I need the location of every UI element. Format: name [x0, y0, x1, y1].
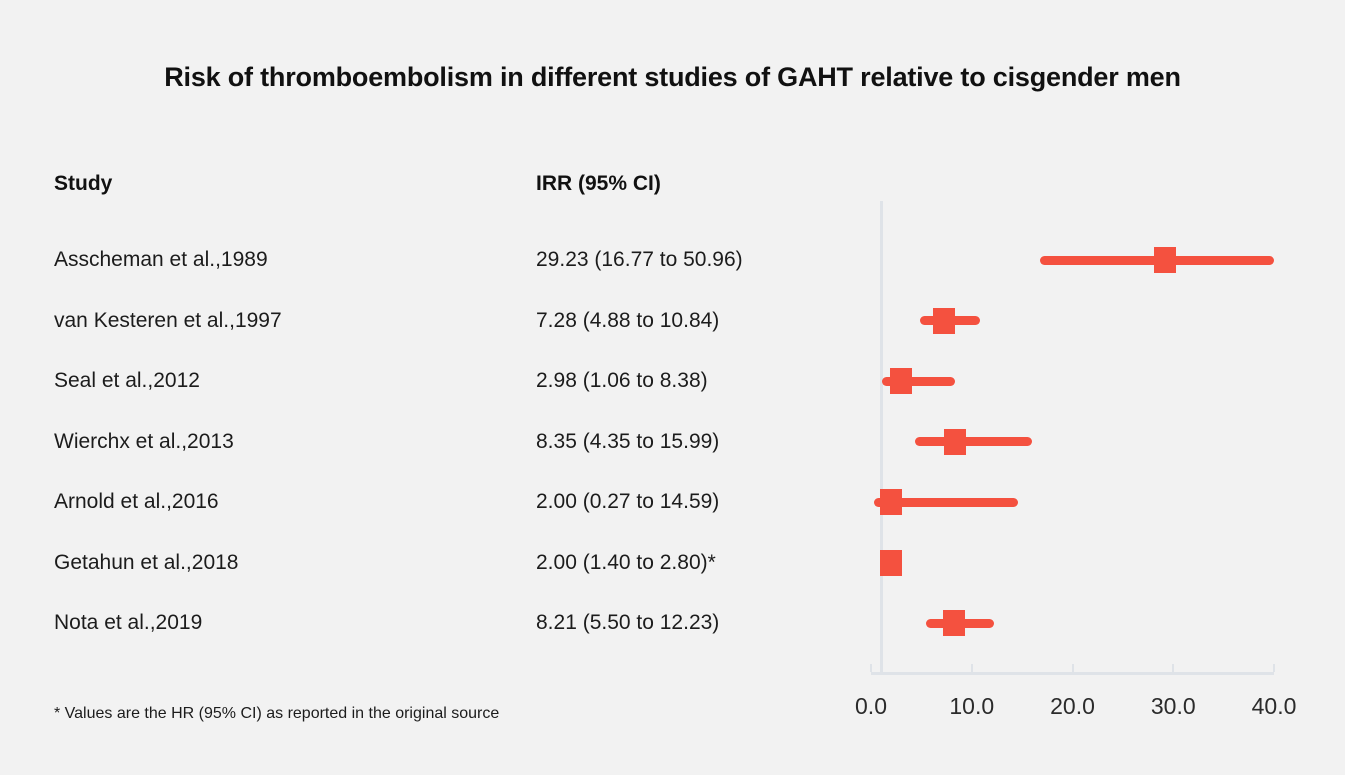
- table-row: Arnold et al.,20162.00 (0.27 to 14.59): [0, 482, 1345, 522]
- study-name: Getahun et al.,2018: [54, 543, 238, 583]
- forest-plot-figure: Risk of thromboembolism in different stu…: [0, 0, 1345, 775]
- irr-value: 8.35 (4.35 to 15.99): [536, 422, 719, 462]
- study-name: Wierchx et al.,2013: [54, 422, 234, 462]
- irr-value: 29.23 (16.77 to 50.96): [536, 240, 743, 280]
- study-rows: Asscheman et al.,198929.23 (16.77 to 50.…: [0, 0, 1345, 775]
- study-name: Asscheman et al.,1989: [54, 240, 268, 280]
- irr-value: 8.21 (5.50 to 12.23): [536, 603, 719, 643]
- table-row: Nota et al.,20198.21 (5.50 to 12.23): [0, 603, 1345, 643]
- table-row: van Kesteren et al.,19977.28 (4.88 to 10…: [0, 301, 1345, 341]
- irr-value: 2.00 (0.27 to 14.59): [536, 482, 719, 522]
- study-name: Seal et al.,2012: [54, 361, 200, 401]
- study-name: Nota et al.,2019: [54, 603, 202, 643]
- irr-value: 7.28 (4.88 to 10.84): [536, 301, 719, 341]
- table-row: Wierchx et al.,20138.35 (4.35 to 15.99): [0, 422, 1345, 462]
- irr-value: 2.98 (1.06 to 8.38): [536, 361, 708, 401]
- footnote: * Values are the HR (95% CI) as reported…: [54, 705, 499, 723]
- study-name: Arnold et al.,2016: [54, 482, 219, 522]
- irr-value: 2.00 (1.40 to 2.80)*: [536, 543, 716, 583]
- table-row: Asscheman et al.,198929.23 (16.77 to 50.…: [0, 240, 1345, 280]
- table-row: Getahun et al.,20182.00 (1.40 to 2.80)*: [0, 543, 1345, 583]
- study-name: van Kesteren et al.,1997: [54, 301, 282, 341]
- table-row: Seal et al.,20122.98 (1.06 to 8.38): [0, 361, 1345, 401]
